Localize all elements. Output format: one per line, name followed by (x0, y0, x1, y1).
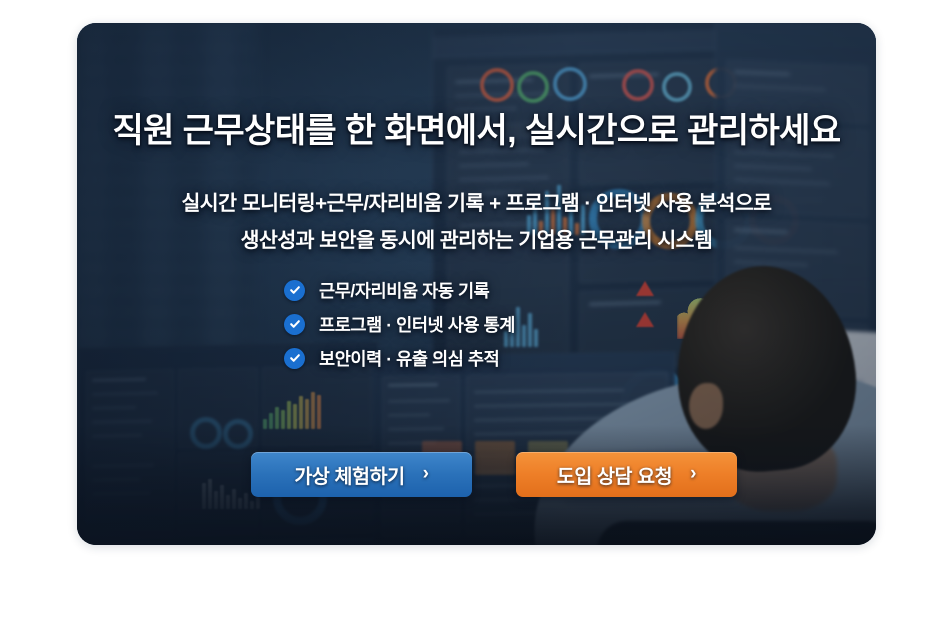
chevron-right-icon: › (690, 464, 696, 483)
virtual-demo-button-label: 가상 체험하기 (294, 460, 404, 489)
feature-label: 보안이력 · 유출 의심 추적 (319, 346, 499, 371)
virtual-demo-button[interactable]: 가상 체험하기 › (251, 452, 472, 497)
hero-subheadline-line-2: 생산성과 보안을 동시에 관리하는 기업용 근무관리 시스템 (77, 223, 876, 253)
hero-feature-list: 근무/자리비움 자동 기록 프로그램 · 인터넷 사용 통계 (284, 275, 515, 377)
request-consultation-button-label: 도입 상담 요청 (557, 460, 672, 489)
feature-label: 프로그램 · 인터넷 사용 통계 (319, 312, 515, 337)
cta-button-row: 가상 체험하기 › 도입 상담 요청 › (251, 452, 737, 497)
list-item: 보안이력 · 유출 의심 추적 (284, 343, 515, 373)
request-consultation-button[interactable]: 도입 상담 요청 › (516, 452, 737, 497)
check-circle-icon (284, 348, 305, 369)
hero-content: 직원 근무상태를 한 화면에서, 실시간으로 관리하세요 실시간 모니터링+근무… (77, 23, 876, 545)
hero-banner-card: 직원 근무상태를 한 화면에서, 실시간으로 관리하세요 실시간 모니터링+근무… (77, 23, 876, 545)
hero-subheadline-line-1: 실시간 모니터링+근무/자리비움 기록 + 프로그램 · 인터넷 사용 분석으로 (77, 186, 876, 216)
chevron-right-icon: › (423, 464, 429, 483)
list-item: 근무/자리비움 자동 기록 (284, 275, 515, 305)
check-circle-icon (284, 280, 305, 301)
page-root: 직원 근무상태를 한 화면에서, 실시간으로 관리하세요 실시간 모니터링+근무… (0, 0, 951, 621)
hero-headline: 직원 근무상태를 한 화면에서, 실시간으로 관리하세요 (77, 103, 876, 152)
list-item: 프로그램 · 인터넷 사용 통계 (284, 309, 515, 339)
check-circle-icon (284, 314, 305, 335)
feature-label: 근무/자리비움 자동 기록 (319, 278, 489, 303)
